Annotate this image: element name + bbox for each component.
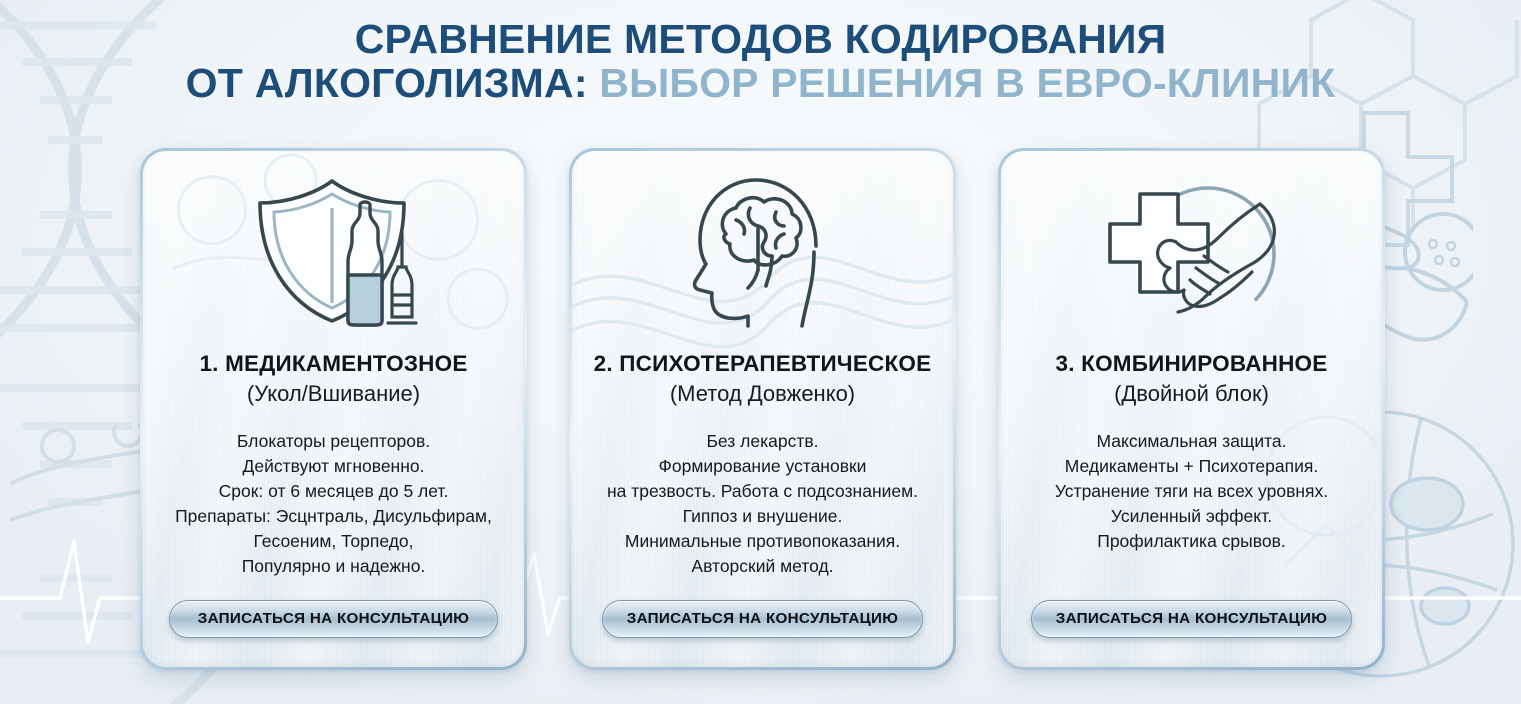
shield-ampoule-syringe-icon: [248, 175, 420, 327]
card-body-text: Без лекарств. Формирование установки на …: [599, 429, 926, 579]
page-title-line-1: СРАВНЕНИЕ МЕТОДОВ КОДИРОВАНИЯ: [0, 18, 1521, 62]
card-body-text: Блокаторы рецепторов. Действуют мгновенн…: [167, 429, 500, 579]
card-heading: 3. КОМБИНИРОВАННОЕ: [1056, 351, 1328, 377]
page-title-line-2-light: ВЫБОР РЕШЕНИЯ В ЕВРО-КЛИНИК: [599, 60, 1335, 106]
page-title-line-2-dark: ОТ АЛКОГОЛИЗМА:: [186, 60, 588, 106]
card-icon-wrap: [572, 151, 953, 351]
card-heading: 1. МЕДИКАМЕНТОЗНОЕ: [199, 351, 467, 377]
cta-button-card-1[interactable]: ЗАПИСАТЬСЯ НА КОНСУЛЬТАЦИЮ: [169, 600, 498, 638]
card-icon-wrap: [143, 151, 524, 351]
cross-helping-hands-icon: [1104, 176, 1280, 326]
card-subtitle: (Двойной блок): [1114, 381, 1269, 407]
card-subtitle: (Укол/Вшивание): [247, 381, 420, 407]
card-body-text: Максимальная защита. Медикаменты + Психо…: [1047, 429, 1336, 554]
method-cards-row: 1. МЕДИКАМЕНТОЗНОЕ (Укол/Вшивание) Блока…: [140, 148, 1385, 670]
cta-button-card-3[interactable]: ЗАПИСАТЬСЯ НА КОНСУЛЬТАЦИЮ: [1031, 600, 1352, 638]
cta-button-card-2[interactable]: ЗАПИСАТЬСЯ НА КОНСУЛЬТАЦИЮ: [602, 600, 923, 638]
method-card-kombinirovannoe[interactable]: 3. КОМБИНИРОВАННОЕ (Двойной блок) Максим…: [998, 148, 1385, 670]
page-title-line-2: ОТ АЛКОГОЛИЗМА: ВЫБОР РЕШЕНИЯ В ЕВРО-КЛИ…: [0, 62, 1521, 106]
method-card-medikamentoznoe[interactable]: 1. МЕДИКАМЕНТОЗНОЕ (Укол/Вшивание) Блока…: [140, 148, 527, 670]
card-icon-wrap: [1001, 151, 1382, 351]
card-subtitle: (Метод Довженко): [670, 381, 855, 407]
card-heading: 2. ПСИХОТЕРАПЕВТИЧЕСКОЕ: [594, 351, 932, 377]
page-header: СРАВНЕНИЕ МЕТОДОВ КОДИРОВАНИЯ ОТ АЛКОГОЛ…: [0, 18, 1521, 106]
head-brain-icon: [688, 174, 838, 328]
method-card-psihoterapevticheskoe[interactable]: 2. ПСИХОТЕРАПЕВТИЧЕСКОЕ (Метод Довженко)…: [569, 148, 956, 670]
